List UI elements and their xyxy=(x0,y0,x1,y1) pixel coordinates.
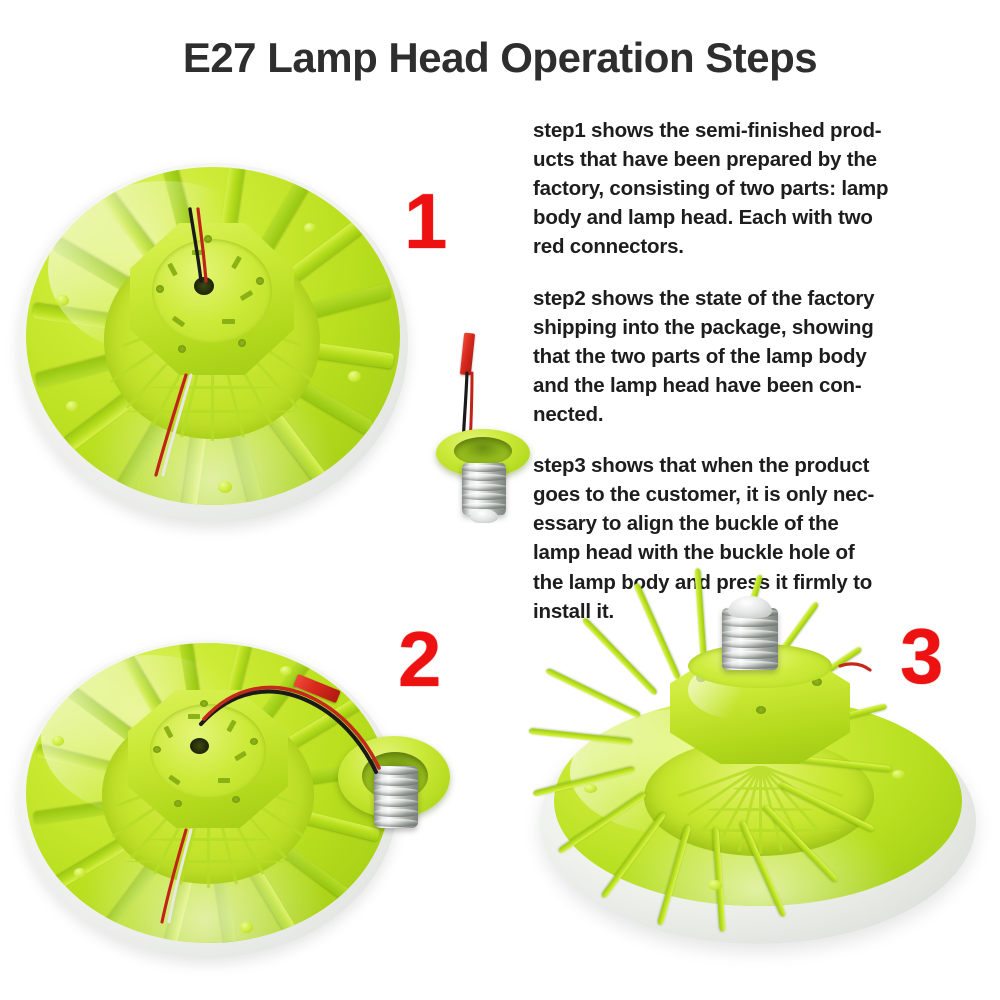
instruction-paragraph-step2: step2 shows the state of the factory shi… xyxy=(533,284,985,430)
connection-wire xyxy=(18,640,448,960)
instructions-column: step1 shows the semi-finished prod- ucts… xyxy=(533,116,985,648)
e27-tip xyxy=(470,509,498,523)
lamp-head-mouth xyxy=(454,437,512,465)
rim-bump xyxy=(584,784,597,793)
lamp-head-wire xyxy=(540,588,990,960)
lamp-body-wires xyxy=(18,163,408,523)
rim-bump xyxy=(708,880,722,890)
e27-screw-base xyxy=(462,463,506,515)
page-title: E27 Lamp Head Operation Steps xyxy=(0,34,1000,82)
lamp-body-disc xyxy=(18,163,408,523)
rim-bump xyxy=(892,770,905,779)
product-instruction-graphic: E27 Lamp Head Operation Steps step1 show… xyxy=(0,0,1000,1000)
lamp-body-and-separate-lamp-head-photo xyxy=(18,163,408,535)
lamp-body-with-connected-lamp-head-photo xyxy=(18,640,448,960)
assembled-lamp-with-e27-base-photo xyxy=(540,588,990,960)
step-number-1: 1 xyxy=(404,182,447,260)
instruction-paragraph-step1: step1 shows the semi-finished prod- ucts… xyxy=(533,116,985,262)
separate-lamp-head xyxy=(430,333,536,523)
